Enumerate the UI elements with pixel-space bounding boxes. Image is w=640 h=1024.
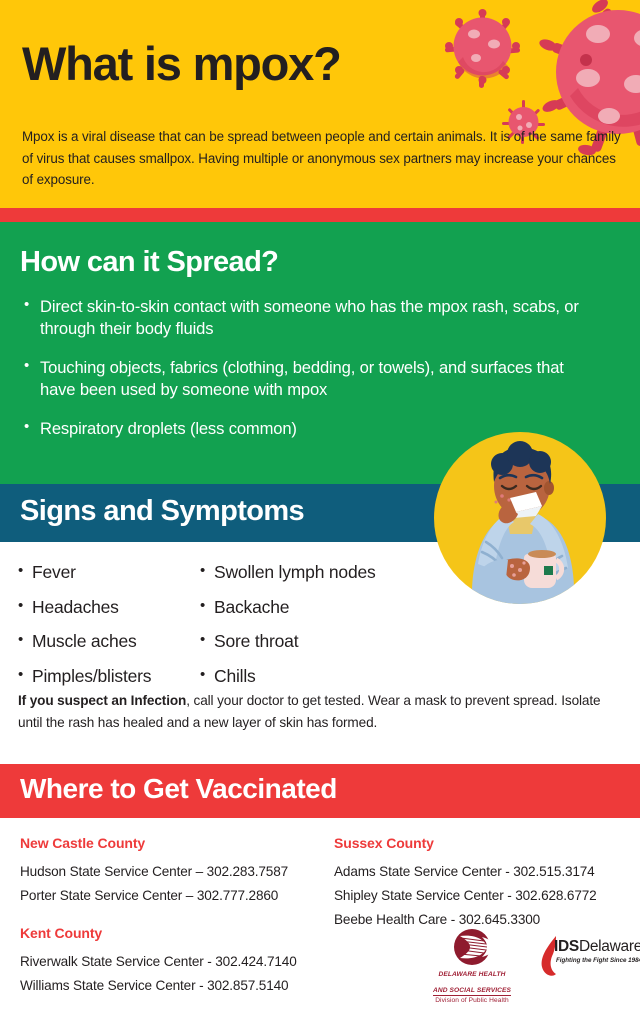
aids-delaware-wordmark: IDSDelaware <box>554 938 640 956</box>
county-block-kent: Kent County Riverwalk State Service Cent… <box>20 925 297 998</box>
dhss-line-3: Division of Public Health <box>424 997 520 1005</box>
page-title: What is mpox? <box>22 40 341 87</box>
dhss-line-2: AND SOCIAL SERVICES <box>433 987 511 996</box>
list-item: Backache <box>200 599 376 617</box>
infection-advice-bold: If you suspect an Infection <box>18 693 186 708</box>
list-item: Pimples/blisters <box>18 668 151 686</box>
aids-delaware-tagline: Fighting the Fight Since 1984 <box>556 957 640 964</box>
county-location-list: Adams State Service Center - 302.515.317… <box>334 860 597 933</box>
red-divider <box>0 208 640 222</box>
list-item: Fever <box>18 564 151 582</box>
list-item: Headaches <box>18 599 151 617</box>
aids-delaware-logo: IDSDelaware Fighting the Fight Since 198… <box>536 934 636 980</box>
list-item: Swollen lymph nodes <box>200 564 376 582</box>
list-item: Adams State Service Center - 302.515.317… <box>334 860 597 884</box>
aids-wordmark-delaware: Delaware <box>579 938 640 955</box>
logo-row: DELAWARE HEALTH AND SOCIAL SERVICES Divi… <box>424 928 634 1006</box>
county-location-list: Hudson State Service Center – 302.283.75… <box>20 860 288 908</box>
aids-wordmark-ids: IDS <box>554 938 579 955</box>
list-item: Direct skin-to-skin contact with someone… <box>24 296 584 340</box>
sick-person-icon <box>432 430 608 606</box>
county-location-list: Riverwalk State Service Center - 302.424… <box>20 950 297 998</box>
symptoms-column-1: Fever Headaches Muscle aches Pimples/bli… <box>18 564 151 702</box>
list-item: Porter State Service Center – 302.777.28… <box>20 884 288 908</box>
county-name: New Castle County <box>20 835 288 851</box>
county-name: Kent County <box>20 925 297 941</box>
list-item: Chills <box>200 668 376 686</box>
list-item: Riverwalk State Service Center - 302.424… <box>20 950 297 974</box>
signs-heading: Signs and Symptoms <box>20 495 304 528</box>
list-item: Sore throat <box>200 633 376 651</box>
list-item: Shipley State Service Center - 302.628.6… <box>334 884 597 908</box>
symptoms-column-2: Swollen lymph nodes Backache Sore throat… <box>200 564 376 702</box>
county-block-sussex: Sussex County Adams State Service Center… <box>334 835 597 933</box>
county-name: Sussex County <box>334 835 597 851</box>
county-block-new-castle: New Castle County Hudson State Service C… <box>20 835 288 908</box>
list-item: Touching objects, fabrics (clothing, bed… <box>24 357 584 401</box>
header-description: Mpox is a viral disease that can be spre… <box>22 126 622 191</box>
mpox-infographic-poster: What is mpox? Mpox is a viral disease th… <box>0 0 640 1024</box>
header-section: What is mpox? Mpox is a viral disease th… <box>0 0 640 208</box>
spread-heading: How can it Spread? <box>20 246 278 279</box>
vaccination-heading: Where to Get Vaccinated <box>20 773 337 805</box>
infection-advice-note: If you suspect an Infection, call your d… <box>18 690 624 734</box>
vaccination-header-band: Where to Get Vaccinated <box>0 764 640 818</box>
vaccination-section: New Castle County Hudson State Service C… <box>0 818 640 1024</box>
list-item: Muscle aches <box>18 633 151 651</box>
delaware-health-social-services-logo: DELAWARE HEALTH AND SOCIAL SERVICES Divi… <box>424 928 520 1005</box>
dhss-line-1: DELAWARE HEALTH <box>424 971 520 979</box>
list-item: Hudson State Service Center – 302.283.75… <box>20 860 288 884</box>
dhss-seal-icon <box>424 928 520 966</box>
list-item: Williams State Service Center - 302.857.… <box>20 974 297 998</box>
